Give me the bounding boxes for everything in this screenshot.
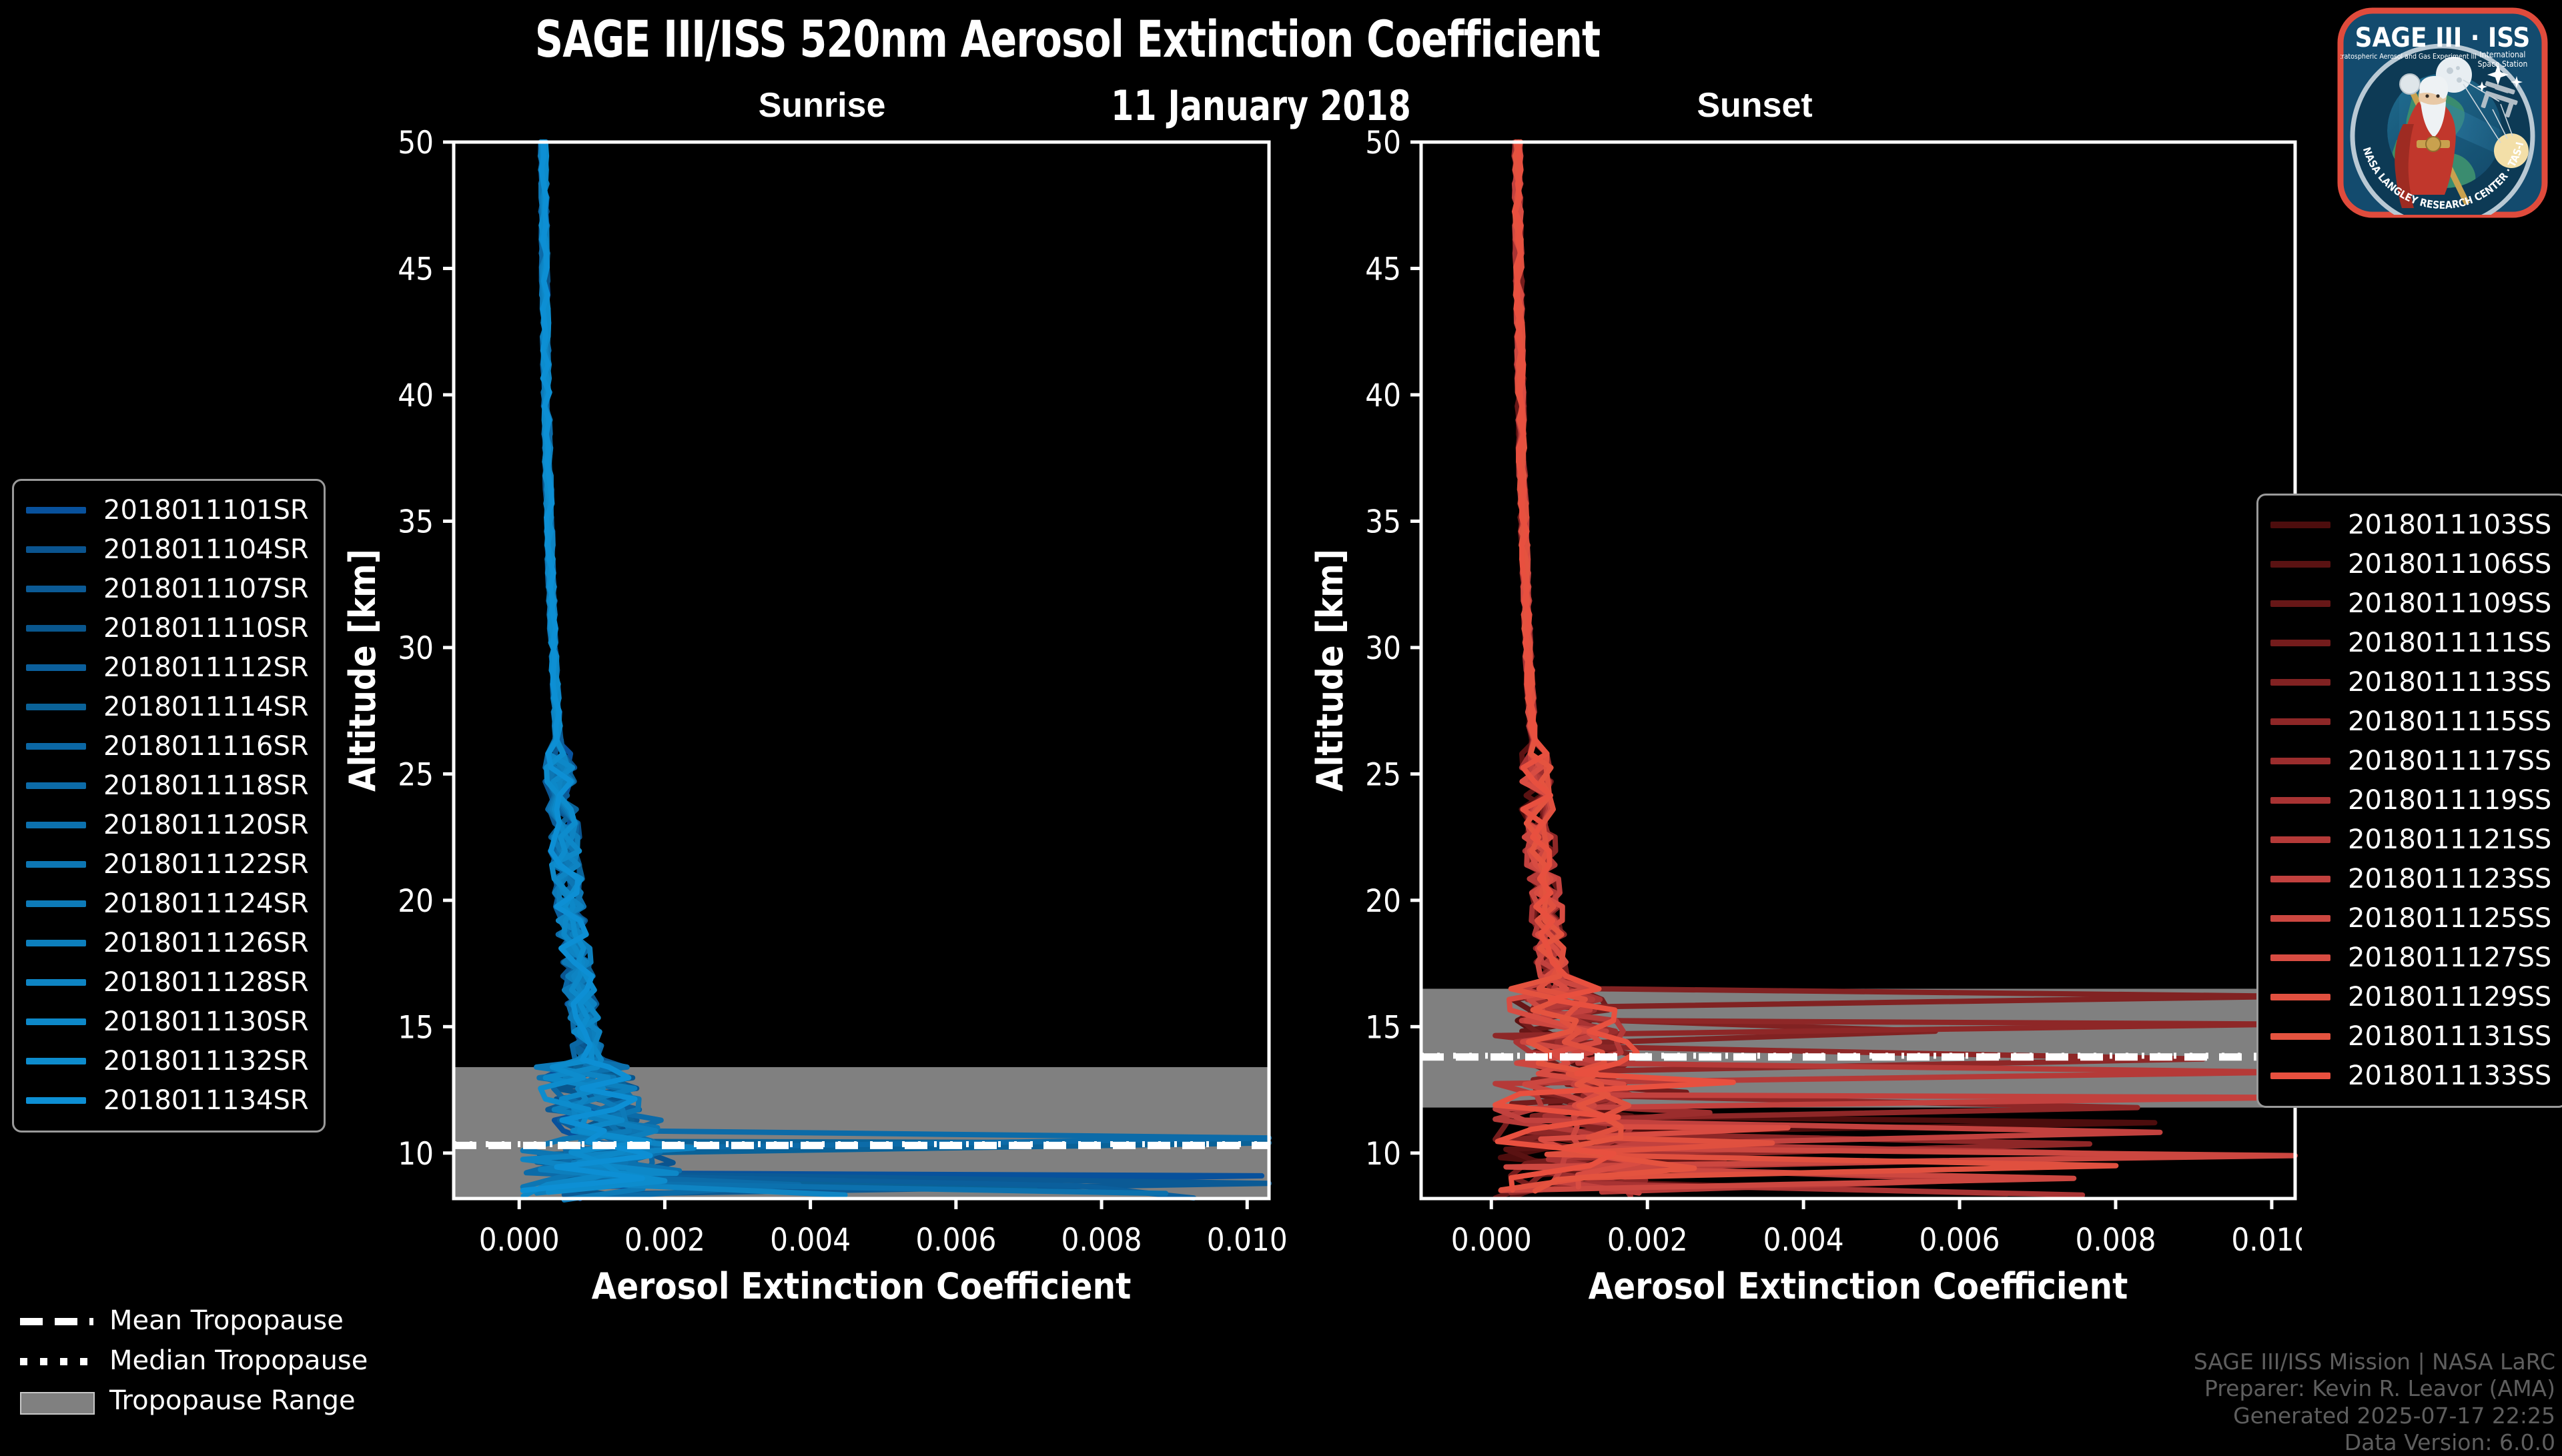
legend-item[interactable]: 2018011124SR	[26, 884, 309, 923]
credit-line: SAGE III/ISS Mission | NASA LaRC	[2194, 1349, 2555, 1375]
y-tick-label: 50	[1365, 127, 1401, 161]
credits-block: SAGE III/ISS Mission | NASA LaRCPreparer…	[2194, 1349, 2555, 1456]
legend-item-label: 2018011110SR	[103, 613, 309, 644]
legend-item[interactable]: 2018011122SR	[26, 844, 309, 884]
y-tick-label: 30	[1365, 630, 1401, 667]
y-tick-label: 15	[1365, 1009, 1401, 1046]
legend-color-swatch	[2270, 797, 2330, 804]
legend-color-swatch	[26, 625, 86, 632]
legend-item[interactable]: 2018011118SR	[26, 766, 309, 805]
legend-item[interactable]: 2018011110SR	[26, 608, 309, 648]
legend-item-label: 2018011121SS	[2348, 824, 2551, 855]
legend-item-label: 2018011116SR	[103, 731, 309, 762]
legend-item-label: 2018011125SS	[2348, 903, 2551, 934]
y-tick-label: 35	[398, 504, 434, 540]
legend-item[interactable]: 2018011113SS	[2270, 662, 2551, 702]
x-tick-label: 0.010	[2231, 1222, 2302, 1259]
sage-iii-iss-mission-patch-logo: SAGE III · ISS Stratospheric Aerosol and…	[2332, 3, 2553, 223]
credit-line: Data Version: 6.0.0	[2194, 1429, 2555, 1456]
legend-color-swatch	[2270, 876, 2330, 882]
x-tick-label: 0.000	[479, 1222, 560, 1259]
legend-item[interactable]: 2018011119SS	[2270, 780, 2551, 820]
legend-color-swatch	[2270, 1072, 2330, 1079]
sunset-series-legend[interactable]: 2018011103SS2018011106SS2018011109SS2018…	[2256, 494, 2562, 1108]
legend-item[interactable]: 2018011107SR	[26, 569, 309, 608]
x-tick-label: 0.008	[2075, 1222, 2156, 1259]
legend-item-label: 2018011124SR	[103, 888, 309, 919]
y-axis-label: Altitude [km]	[1314, 549, 1351, 792]
legend-item-label: 2018011119SS	[2348, 785, 2551, 816]
legend-color-swatch	[2270, 679, 2330, 686]
legend-item-label: 2018011123SS	[2348, 864, 2551, 894]
sunrise-series-legend[interactable]: 2018011101SR2018011104SR2018011107SR2018…	[12, 479, 326, 1133]
legend-color-swatch	[26, 1058, 86, 1064]
legend-item[interactable]: 2018011126SR	[26, 923, 309, 962]
legend-item[interactable]: 2018011106SS	[2270, 544, 2551, 584]
legend-color-swatch	[2270, 954, 2330, 961]
legend-item[interactable]: 2018011112SR	[26, 648, 309, 687]
legend-color-swatch	[2270, 758, 2330, 764]
legend-color-swatch	[2270, 561, 2330, 568]
legend-item-label: 2018011127SS	[2348, 942, 2551, 973]
tropopause-legend-item: Median Tropopause	[20, 1341, 368, 1381]
legend-item-label: 2018011132SR	[103, 1046, 309, 1076]
legend-item-label: 2018011126SR	[103, 928, 309, 958]
y-tick-label: 45	[1365, 251, 1401, 287]
legend-item[interactable]: 2018011101SR	[26, 490, 309, 530]
legend-color-swatch	[26, 704, 86, 710]
legend-color-swatch	[2270, 994, 2330, 1000]
x-tick-label: 0.008	[1061, 1222, 1142, 1259]
legend-color-swatch	[2270, 640, 2330, 646]
legend-item-label: 2018011134SR	[103, 1085, 309, 1116]
legend-item-label: 2018011111SS	[2348, 628, 2551, 658]
mean-tropopause-key-glyph	[20, 1318, 93, 1325]
legend-color-swatch	[2270, 718, 2330, 725]
legend-item[interactable]: 2018011117SS	[2270, 741, 2551, 780]
credit-line: Generated 2025-07-17 22:25	[2194, 1403, 2555, 1429]
logo-subtitle-right-1: International	[2480, 50, 2526, 59]
legend-item-label: 2018011109SS	[2348, 588, 2551, 619]
y-tick-label: 30	[398, 630, 434, 667]
logo-title: SAGE III · ISS	[2355, 23, 2531, 53]
legend-item[interactable]: 2018011115SS	[2270, 702, 2551, 741]
y-tick-label: 40	[1365, 378, 1401, 414]
sunrise-plot: 0.0000.0020.0040.0060.0080.0101015202530…	[347, 127, 1294, 1314]
legend-color-swatch	[26, 782, 86, 789]
legend-item-label: 2018011104SR	[103, 534, 309, 565]
legend-item[interactable]: 2018011127SS	[2270, 938, 2551, 977]
y-tick-label: 50	[398, 127, 434, 161]
legend-item-label: 2018011115SS	[2348, 706, 2551, 737]
median-tropopause-label: Median Tropopause	[109, 1345, 368, 1376]
legend-item[interactable]: 2018011125SS	[2270, 898, 2551, 938]
legend-item-label: 2018011128SR	[103, 967, 309, 998]
legend-item[interactable]: 2018011121SS	[2270, 820, 2551, 859]
legend-color-swatch	[2270, 1033, 2330, 1040]
legend-item-label: 2018011112SR	[103, 652, 309, 683]
legend-item-label: 2018011107SR	[103, 574, 309, 604]
legend-item-label: 2018011131SS	[2348, 1021, 2551, 1052]
x-axis-label: Aerosol Extinction Coefficient	[592, 1265, 1132, 1307]
logo-subtitle-right-2: Space Station	[2478, 59, 2528, 69]
x-axis-units: [km⁻¹]	[803, 1313, 919, 1314]
x-tick-label: 0.006	[915, 1222, 996, 1259]
legend-color-swatch	[2270, 522, 2330, 528]
legend-item[interactable]: 2018011128SR	[26, 962, 309, 1002]
legend-color-swatch	[26, 546, 86, 553]
y-tick-label: 10	[398, 1136, 434, 1173]
legend-item[interactable]: 2018011131SS	[2270, 1016, 2551, 1056]
logo-subtitle-left: Stratospheric Aerosol and Gas Experiment…	[2335, 53, 2477, 61]
legend-color-swatch	[26, 822, 86, 828]
legend-item[interactable]: 2018011111SS	[2270, 623, 2551, 662]
legend-item-label: 2018011103SS	[2348, 510, 2551, 540]
tropopause-range-key-glyph	[20, 1392, 95, 1415]
legend-color-swatch	[26, 743, 86, 750]
credit-line: Preparer: Kevin R. Leavor (AMA)	[2194, 1375, 2555, 1402]
x-tick-label: 0.006	[1919, 1222, 2000, 1259]
legend-color-swatch	[26, 1018, 86, 1025]
legend-item[interactable]: 2018011120SR	[26, 805, 309, 844]
legend-color-swatch	[26, 1097, 86, 1104]
legend-item[interactable]: 2018011114SR	[26, 687, 309, 726]
y-tick-label: 35	[1365, 504, 1401, 540]
sunset-panel-title: Sunset	[1621, 85, 1888, 125]
legend-item[interactable]: 2018011129SS	[2270, 977, 2551, 1016]
legend-item-label: 2018011130SR	[103, 1006, 309, 1037]
x-tick-label: 0.004	[1763, 1222, 1844, 1259]
x-tick-label: 0.002	[624, 1222, 705, 1259]
mean-tropopause-label: Mean Tropopause	[109, 1305, 344, 1336]
y-tick-label: 10	[1365, 1136, 1401, 1173]
legend-item[interactable]: 2018011103SS	[2270, 505, 2551, 544]
tropopause-legend-item: Tropopause Range	[20, 1381, 368, 1421]
legend-item[interactable]: 2018011134SR	[26, 1080, 309, 1120]
x-tick-label: 0.002	[1607, 1222, 1688, 1259]
legend-item-label: 2018011120SR	[103, 810, 309, 840]
legend-color-swatch	[2270, 836, 2330, 843]
y-tick-label: 45	[398, 251, 434, 287]
legend-color-swatch	[26, 979, 86, 986]
date-subtitle: 11 January 2018	[938, 81, 1584, 130]
x-axis-units: [km⁻¹]	[1800, 1313, 1916, 1314]
y-tick-label: 15	[398, 1009, 434, 1046]
legend-item-label: 2018011129SS	[2348, 982, 2551, 1012]
x-tick-label: 0.004	[770, 1222, 851, 1259]
tropopause-legend-item: Mean Tropopause	[20, 1301, 368, 1341]
sunrise-panel-title: Sunrise	[689, 85, 955, 125]
y-tick-label: 25	[1365, 756, 1401, 793]
legend-item-label: 2018011117SS	[2348, 746, 2551, 776]
y-tick-label: 25	[398, 756, 434, 793]
legend-item-label: 2018011133SS	[2348, 1060, 2551, 1091]
median-tropopause-key-glyph	[20, 1358, 93, 1365]
legend-item[interactable]: 2018011132SR	[26, 1041, 309, 1080]
legend-item-label: 2018011114SR	[103, 692, 309, 722]
legend-item[interactable]: 2018011130SR	[26, 1002, 309, 1041]
legend-item-label: 2018011106SS	[2348, 549, 2551, 580]
legend-item[interactable]: 2018011123SS	[2270, 859, 2551, 898]
legend-color-swatch	[2270, 915, 2330, 922]
x-tick-label: 0.010	[1207, 1222, 1288, 1259]
legend-color-swatch	[26, 507, 86, 514]
tropopause-range-key-icon	[20, 1392, 93, 1409]
legend-color-swatch	[26, 664, 86, 671]
x-tick-label: 0.000	[1451, 1222, 1532, 1259]
page-title: SAGE III/ISS 520nm Aerosol Extinction Co…	[149, 9, 1986, 69]
legend-item-label: 2018011113SS	[2348, 667, 2551, 698]
legend-color-swatch	[2270, 600, 2330, 607]
tropopause-range-label: Tropopause Range	[109, 1385, 356, 1416]
legend-color-swatch	[26, 586, 86, 592]
legend-item[interactable]: 2018011116SR	[26, 726, 309, 766]
y-tick-label: 20	[1365, 883, 1401, 920]
legend-color-swatch	[26, 900, 86, 907]
legend-color-swatch	[26, 861, 86, 868]
legend-item[interactable]: 2018011133SS	[2270, 1056, 2551, 1095]
plot-area	[454, 142, 1269, 1199]
legend-item[interactable]: 2018011109SS	[2270, 584, 2551, 623]
y-axis-label: Altitude [km]	[347, 549, 384, 792]
y-tick-label: 20	[398, 883, 434, 920]
legend-item-label: 2018011118SR	[103, 770, 309, 801]
y-tick-label: 40	[398, 378, 434, 414]
sunset-plot: 0.0000.0020.0040.0060.0080.0101015202530…	[1314, 127, 2302, 1314]
median-tropopause-key-icon	[20, 1352, 93, 1369]
legend-item-label: 2018011101SR	[103, 495, 309, 526]
tropopause-legend: Mean TropopauseMedian TropopauseTropopau…	[20, 1301, 368, 1421]
mean-tropopause-key-icon	[20, 1312, 93, 1329]
x-axis-label: Aerosol Extinction Coefficient	[1589, 1265, 2128, 1307]
legend-color-swatch	[26, 940, 86, 946]
legend-item[interactable]: 2018011104SR	[26, 530, 309, 569]
legend-item-label: 2018011122SR	[103, 849, 309, 880]
